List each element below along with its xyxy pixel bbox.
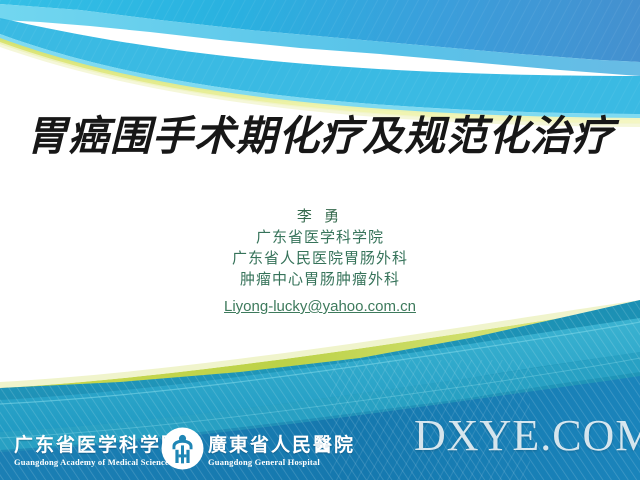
academy-name-cn: 广东省医学科学院 xyxy=(14,435,182,457)
hospital-name-en: Guangdong General Hospital xyxy=(208,457,355,468)
hospital-circle-logo-icon xyxy=(160,426,205,471)
affiliation-line-1: 广东省医学科学院 xyxy=(0,227,640,248)
affiliation-line-3: 肿瘤中心胃肠肿瘤外科 xyxy=(0,269,640,290)
academy-logo-text: 广东省医学科学院 Guangdong Academy of Medical Sc… xyxy=(14,435,182,468)
author-email-link[interactable]: Liyong-lucky@yahoo.com.cn xyxy=(224,297,416,317)
presentation-slide: 胃癌围手术期化疗及规范化治疗 李 勇 广东省医学科学院 广东省人民医院胃肠外科 … xyxy=(0,0,640,480)
footer-logo-bar: 广东省医学科学院 Guangdong Academy of Medical Sc… xyxy=(0,418,640,480)
hospital-name-cn: 廣東省人民醫院 xyxy=(208,435,355,457)
author-name: 李 勇 xyxy=(0,206,640,227)
affiliation-line-2: 广东省人民医院胃肠外科 xyxy=(0,248,640,269)
slide-subtitle-block: 李 勇 广东省医学科学院 广东省人民医院胃肠外科 肿瘤中心胃肠肿瘤外科 Liyo… xyxy=(0,206,640,317)
slide-title: 胃癌围手术期化疗及规范化治疗 xyxy=(0,108,640,164)
hospital-logo-text: 廣東省人民醫院 Guangdong General Hospital xyxy=(208,435,355,468)
academy-name-en: Guangdong Academy of Medical Sciences xyxy=(14,457,182,468)
